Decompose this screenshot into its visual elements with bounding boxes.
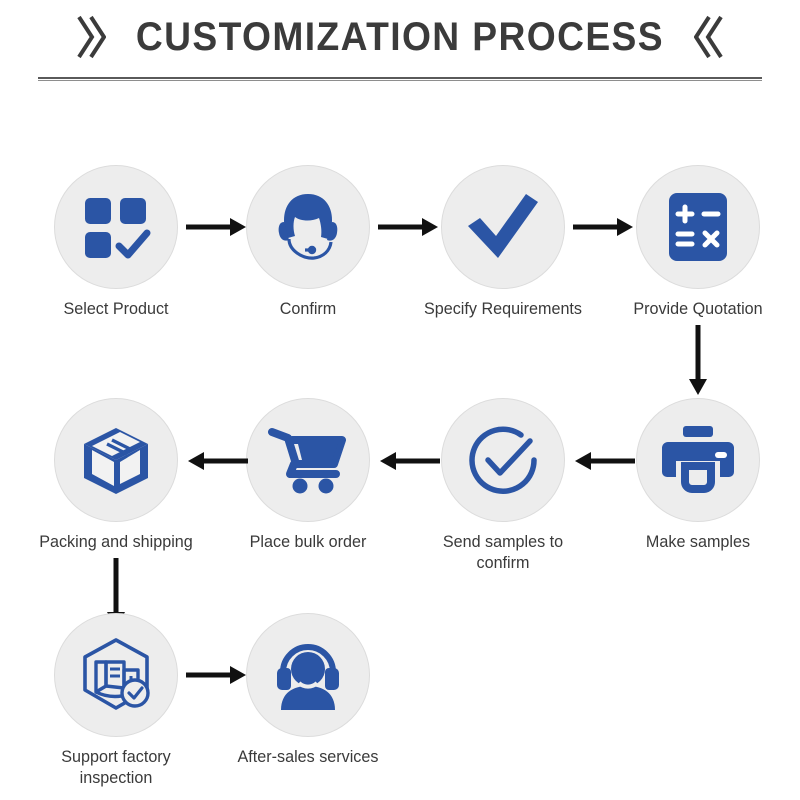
shopping-cart-icon <box>268 424 348 496</box>
step-node-packing-and-shipping[interactable]: Packing and shipping <box>31 398 201 552</box>
connector-arrow-down <box>686 325 710 397</box>
step-node-select-product[interactable]: Select Product <box>31 165 201 319</box>
double-chevron-left-icon <box>694 14 724 60</box>
step-node-support-factory-inspection[interactable]: Support factory inspection <box>31 613 201 788</box>
step-icon-bubble <box>246 398 370 522</box>
step-label: Send samples to confirm <box>422 531 584 573</box>
step-label: Support factory inspection <box>35 746 197 788</box>
step-icon-bubble <box>441 165 565 289</box>
box-package-icon <box>76 420 156 500</box>
title-row: CUSTOMIZATION PROCESS <box>0 6 800 68</box>
support-person-icon <box>269 638 347 712</box>
step-icon-bubble <box>636 165 760 289</box>
page-title: CUSTOMIZATION PROCESS <box>136 15 664 60</box>
step-icon-bubble <box>54 398 178 522</box>
step-node-confirm[interactable]: Confirm <box>223 165 393 319</box>
page-header: CUSTOMIZATION PROCESS <box>0 0 800 100</box>
step-label: Make samples <box>617 531 779 552</box>
step-icon-bubble <box>54 613 178 737</box>
step-label: Packing and shipping <box>35 531 197 552</box>
factory-inspection-icon <box>76 636 156 714</box>
headset-agent-icon <box>269 188 347 266</box>
step-node-specify-requirements[interactable]: Specify Requirements <box>418 165 588 319</box>
step-icon-bubble <box>246 165 370 289</box>
calculator-icon <box>663 189 733 265</box>
step-label: Place bulk order <box>227 531 389 552</box>
step-node-provide-quotation[interactable]: Provide Quotation <box>613 165 783 319</box>
step-icon-bubble <box>636 398 760 522</box>
step-icon-bubble <box>246 613 370 737</box>
grid-check-icon <box>79 190 153 264</box>
step-label: Provide Quotation <box>617 298 779 319</box>
title-divider <box>38 77 762 81</box>
checkmark-icon <box>464 190 542 264</box>
printer-icon <box>660 424 736 496</box>
circle-check-icon <box>464 421 542 499</box>
step-label: Specify Requirements <box>422 298 584 319</box>
step-icon-bubble <box>54 165 178 289</box>
double-chevron-right-icon <box>76 14 106 60</box>
step-label: Select Product <box>35 298 197 319</box>
step-icon-bubble <box>441 398 565 522</box>
step-label: Confirm <box>227 298 389 319</box>
step-node-make-samples[interactable]: Make samples <box>613 398 783 552</box>
step-node-send-samples-to-confirm[interactable]: Send samples to confirm <box>418 398 588 573</box>
step-node-after-sales-services[interactable]: After-sales services <box>223 613 393 767</box>
step-label: After-sales services <box>227 746 389 767</box>
step-node-place-bulk-order[interactable]: Place bulk order <box>223 398 393 552</box>
